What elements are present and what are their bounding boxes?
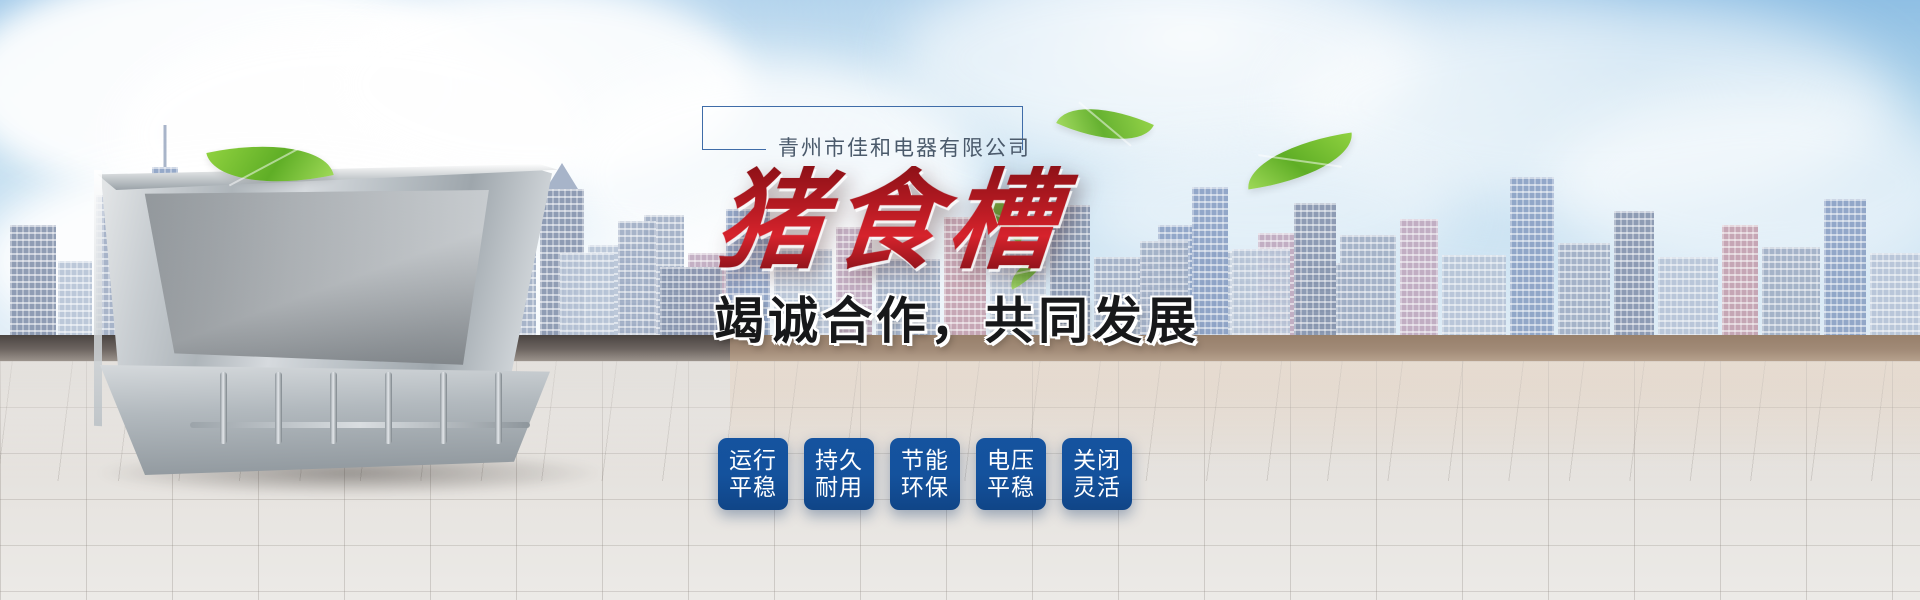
trough-divider: [495, 372, 502, 444]
feature-badge[interactable]: 持久 耐用: [804, 438, 874, 510]
trough-front-panel: [100, 365, 550, 475]
feature-badge-line1: 运行: [729, 447, 777, 474]
trough-divider: [220, 372, 227, 444]
feature-badge-line2: 耐用: [815, 474, 863, 501]
feature-badge-line2: 灵活: [1073, 474, 1121, 501]
feature-badge-line2: 环保: [901, 474, 949, 501]
trough-divider: [275, 372, 282, 444]
frame-dash-line: [702, 149, 766, 150]
feature-badge-line1: 关闭: [1073, 447, 1121, 474]
feature-badge[interactable]: 运行 平稳: [718, 438, 788, 510]
trough-divider: [385, 372, 392, 444]
trough-inner-shading: [130, 190, 500, 380]
feature-badge-line1: 节能: [901, 447, 949, 474]
feature-badge-line2: 平稳: [729, 474, 777, 501]
trough-divider: [330, 372, 337, 444]
skyline-right-cluster: [1140, 130, 1920, 345]
page-subtitle: 竭诚合作，共同发展: [714, 281, 1220, 353]
trough-divider: [440, 372, 447, 444]
feature-badge-line2: 平稳: [987, 474, 1035, 501]
feature-badge[interactable]: 关闭 灵活: [1062, 438, 1132, 510]
trough-edge-highlight: [94, 170, 102, 427]
feature-badge-line1: 电压: [987, 447, 1035, 474]
feature-badge-line1: 持久: [815, 447, 863, 474]
page-title: 猪食槽: [711, 166, 1225, 279]
feature-badge[interactable]: 电压 平稳: [976, 438, 1046, 510]
promo-banner: 青州市佳和电器有限公司 猪食槽 竭诚合作，共同发展 运行 平稳 持久 耐用 节能…: [0, 0, 1920, 600]
company-name-frame: 青州市佳和电器有限公司: [700, 98, 1220, 160]
trough-lower-bar: [190, 422, 530, 428]
product-image-pig-feeding-trough: [70, 150, 590, 480]
feature-badge-list: 运行 平稳 持久 耐用 节能 环保 电压 平稳 关闭 灵活: [718, 438, 1132, 510]
feature-badge[interactable]: 节能 环保: [890, 438, 960, 510]
company-name: 青州市佳和电器有限公司: [778, 132, 1031, 162]
banner-copy-block: 青州市佳和电器有限公司 猪食槽 竭诚合作，共同发展: [700, 98, 1220, 353]
